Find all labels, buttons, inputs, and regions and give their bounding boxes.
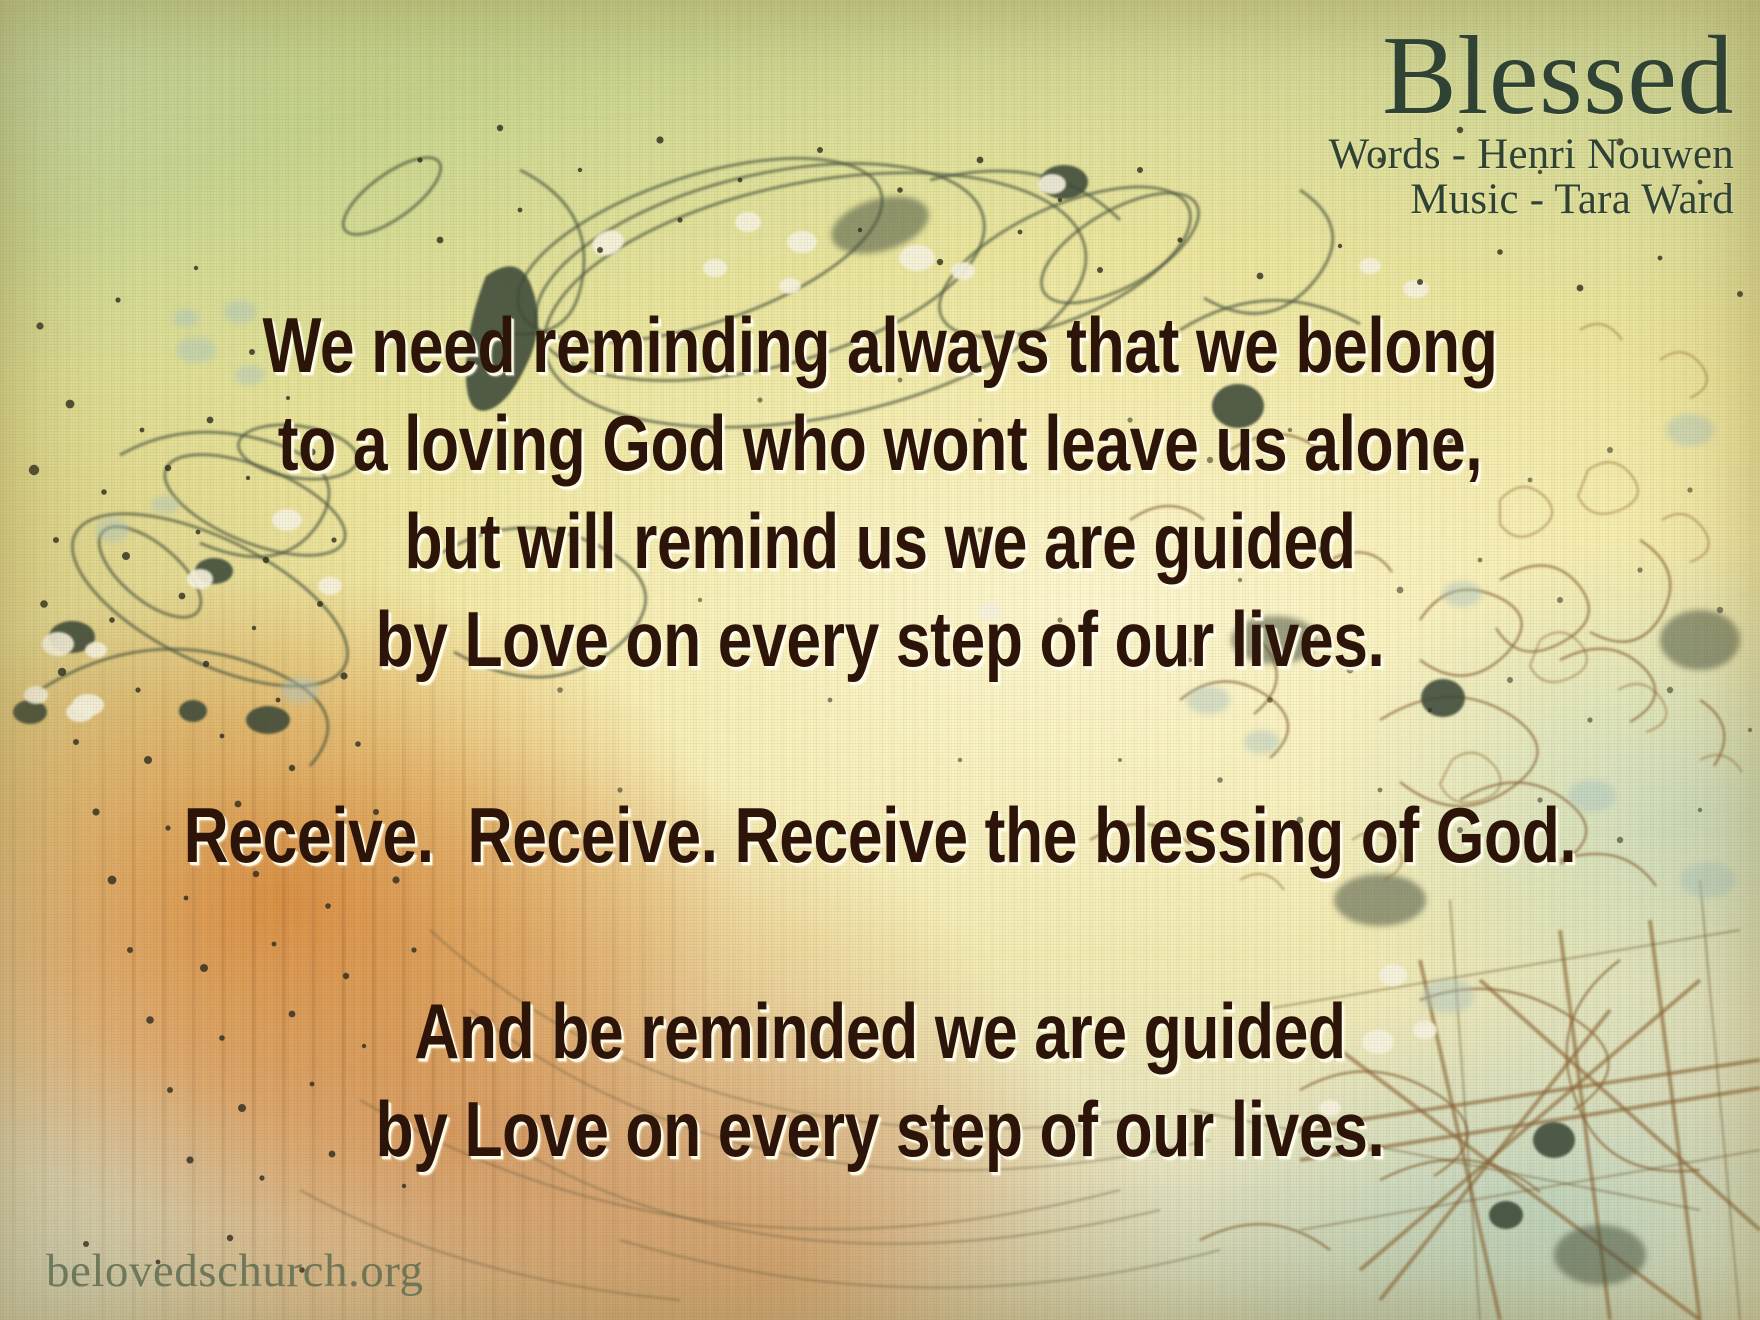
lyrics-block: We need reminding always that we belongt…: [176, 296, 1584, 1178]
lyric-stanza: Receive. Receive. Receive the blessing o…: [176, 786, 1584, 884]
lyric-line: to a loving God who wont leave us alone,: [176, 394, 1584, 492]
site-watermark: belovedschurch.org: [46, 1244, 424, 1298]
lyric-line: Receive. Receive. Receive the blessing o…: [176, 786, 1584, 884]
music-credit: Music - Tara Ward: [1329, 177, 1734, 223]
lyric-line: And be reminded we are guided: [176, 982, 1584, 1080]
lyric-stanza: And be reminded we are guidedby Love on …: [176, 982, 1584, 1178]
song-title: Blessed: [1329, 22, 1734, 132]
lyric-stanza: We need reminding always that we belongt…: [176, 296, 1584, 688]
lyric-stanza-gap: [176, 884, 1584, 982]
lyric-line: by Love on every step of our lives.: [176, 1080, 1584, 1178]
lyric-line: but will remind us we are guided: [176, 492, 1584, 590]
words-credit: Words - Henri Nouwen: [1329, 132, 1734, 178]
title-block: Blessed Words - Henri Nouwen Music - Tar…: [1329, 22, 1734, 223]
lyric-line: by Love on every step of our lives.: [176, 590, 1584, 688]
lyric-line: We need reminding always that we belong: [176, 296, 1584, 394]
lyric-stanza-gap: [176, 688, 1584, 786]
poster-canvas: Blessed Words - Henri Nouwen Music - Tar…: [0, 0, 1760, 1320]
